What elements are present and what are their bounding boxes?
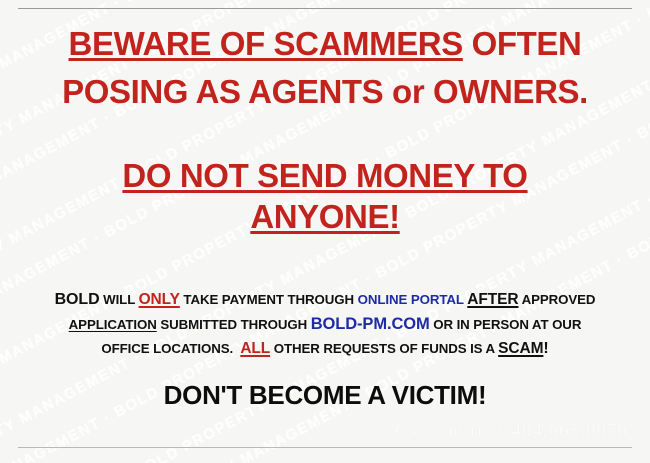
call-to-action-line: DON'T BECOME A VICTIM!: [0, 380, 650, 411]
emphasis-online-portal: ONLINE PORTAL: [358, 292, 464, 307]
body-text: OTHER REQUESTS OF FUNDS IS A: [270, 341, 498, 356]
headline-line-4: ANYONE!: [0, 199, 650, 235]
body-paragraph: BOLD WILL ONLY TAKE PAYMENT THROUGH ONLI…: [0, 288, 650, 361]
headline-often: OFTEN: [463, 25, 582, 62]
body-line-2: APPLICATION SUBMITTED THROUGH BOLD-PM.CO…: [0, 312, 650, 337]
website-bold-pm-com[interactable]: BOLD-PM.COM: [311, 315, 430, 333]
emphasis-all: ALL: [240, 340, 270, 357]
headline-line-3: DO NOT SEND MONEY TO: [0, 158, 650, 194]
emphasis-application: APPLICATION: [69, 317, 157, 332]
contact-phone-line: Call or text 484.665.8976: [395, 420, 628, 442]
scam-warning-poster: BOLD PROPERTY MANAGEMENT · BOLD PROPERTY…: [0, 0, 650, 463]
emphasis-after: AFTER: [467, 291, 518, 308]
body-text: OFFICE LOCATIONS.: [101, 341, 233, 356]
headline-line-1: BEWARE OF SCAMMERS OFTEN: [0, 26, 650, 62]
body-text: OR IN PERSON AT OUR: [430, 317, 582, 332]
bottom-divider: [18, 447, 632, 448]
headline-do-not-send-money: DO NOT SEND MONEY TO: [122, 157, 527, 194]
emphasis-only: ONLY: [139, 291, 180, 308]
body-text: APPROVED: [518, 292, 595, 307]
body-line-3: OFFICE LOCATIONS. ALL OTHER REQUESTS OF …: [0, 337, 650, 361]
body-text: !: [543, 340, 548, 357]
body-text: SUBMITTED THROUGH: [157, 317, 311, 332]
body-text: TAKE PAYMENT THROUGH: [180, 292, 358, 307]
brand-name-bold: BOLD: [55, 291, 100, 308]
body-line-1: BOLD WILL ONLY TAKE PAYMENT THROUGH ONLI…: [0, 288, 650, 312]
top-divider: [18, 8, 632, 9]
emphasis-scam: SCAM: [498, 340, 543, 357]
poster-content: BEWARE OF SCAMMERS OFTEN POSING AS AGENT…: [0, 0, 650, 463]
headline-anyone: ANYONE!: [250, 198, 399, 235]
body-text: WILL: [100, 292, 139, 307]
headline-beware-underlined: BEWARE OF SCAMMERS: [69, 25, 463, 62]
headline-line-2: POSING AS AGENTS or OWNERS.: [0, 74, 650, 110]
